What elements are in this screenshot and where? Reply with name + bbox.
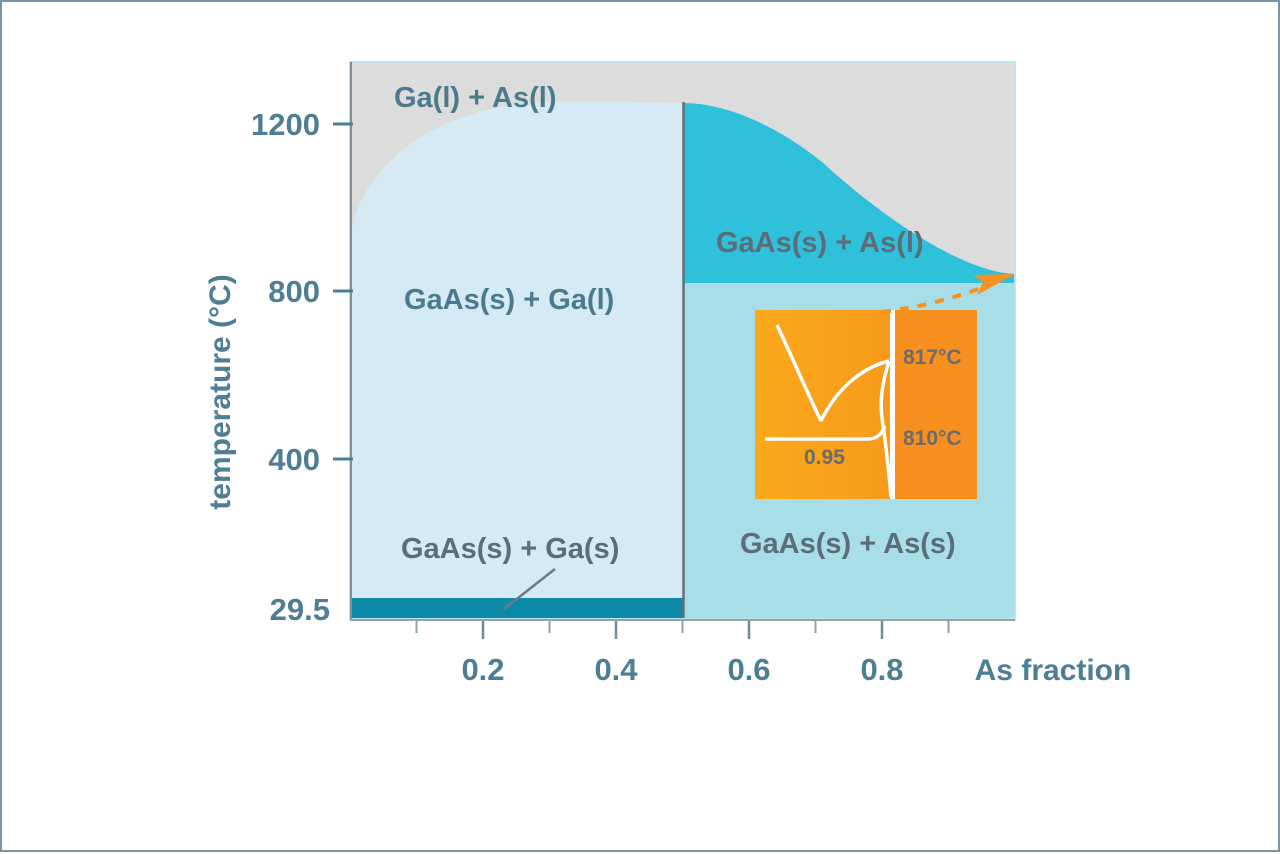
x-axis-title: As fraction — [975, 654, 1132, 687]
y-axis-title: temperature (°C) — [204, 274, 237, 509]
x-tick-label-0-4: 0.4 — [594, 652, 638, 687]
x-tick-label-0-8: 0.8 — [860, 652, 903, 687]
region-eutectic-band — [351, 598, 683, 619]
region-label-gaas-as-solid: GaAs(s) + As(s) — [740, 528, 956, 560]
y-tick-label-800: 800 — [268, 274, 320, 309]
inset-label-817: 817°C — [903, 346, 962, 369]
phase-diagram-figure: 1200 800 400 29.5 temperature (°C) 0.2 0… — [2, 2, 1280, 854]
region-label-gaas-ga-solid: GaAs(s) + Ga(s) — [401, 533, 619, 565]
y-tick-label-29-5: 29.5 — [270, 592, 330, 627]
phase-diagram-svg: 1200 800 400 29.5 temperature (°C) 0.2 0… — [2, 2, 1280, 854]
inset-left-panel — [755, 310, 891, 499]
region-label-liquid: Ga(l) + As(l) — [394, 82, 556, 114]
y-tick-label-1200: 1200 — [251, 107, 320, 142]
region-label-gaas-ga-liquid: GaAs(s) + Ga(l) — [404, 284, 614, 316]
inset-label-810: 810°C — [903, 427, 962, 450]
figure-page: 1200 800 400 29.5 temperature (°C) 0.2 0… — [0, 0, 1280, 852]
inset-zoom-panel: 817°C 810°C 0.95 — [755, 310, 977, 499]
x-tick-label-0-6: 0.6 — [727, 652, 770, 687]
x-tick-label-0-2: 0.2 — [461, 652, 504, 687]
region-label-gaas-as-liquid: GaAs(s) + As(l) — [716, 227, 924, 259]
inset-label-composition: 0.95 — [804, 446, 845, 469]
y-tick-label-400: 400 — [268, 442, 320, 477]
inset-right-panel — [895, 310, 977, 499]
